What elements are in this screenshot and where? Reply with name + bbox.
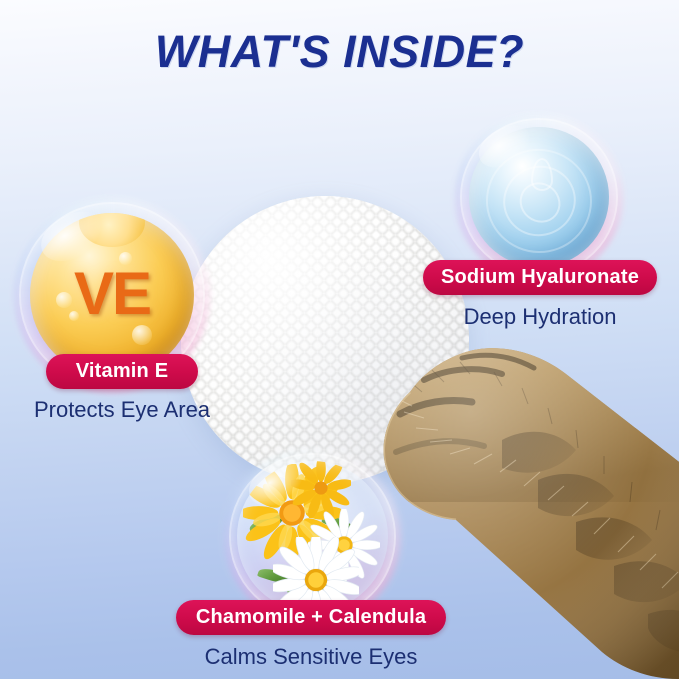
vitamin-e-badge: Vitamin E [46, 354, 199, 389]
ingredient-label-vitamin-e: Vitamin E Protects Eye Area [0, 354, 244, 423]
sodium-hyaluronate-benefit-text: Deep Hydration [404, 304, 676, 330]
chamomile-calendula-badge: Chamomile + Calendula [176, 600, 446, 635]
vitamin-e-benefit-text: Protects Eye Area [0, 397, 244, 423]
ingredient-label-chamomile-calendula: Chamomile + Calendula Calms Sensitive Ey… [155, 600, 467, 670]
sodium-hyaluronate-bubble [455, 113, 623, 281]
chamomile-calendula-bubble [224, 448, 401, 625]
chamomile-calendula-benefit-text: Calms Sensitive Eyes [155, 644, 467, 670]
ingredient-label-sodium-hyaluronate: Sodium Hyaluronate Deep Hydration [404, 260, 676, 330]
bubble-inner-ring [229, 453, 396, 620]
page-title: WHAT'S INSIDE? [0, 26, 679, 78]
cotton-pad-product [181, 196, 469, 484]
poster-canvas: WHAT'S INSIDE? VE [0, 0, 679, 679]
sodium-hyaluronate-badge: Sodium Hyaluronate [423, 260, 657, 295]
bubble-inner-ring [460, 118, 618, 276]
